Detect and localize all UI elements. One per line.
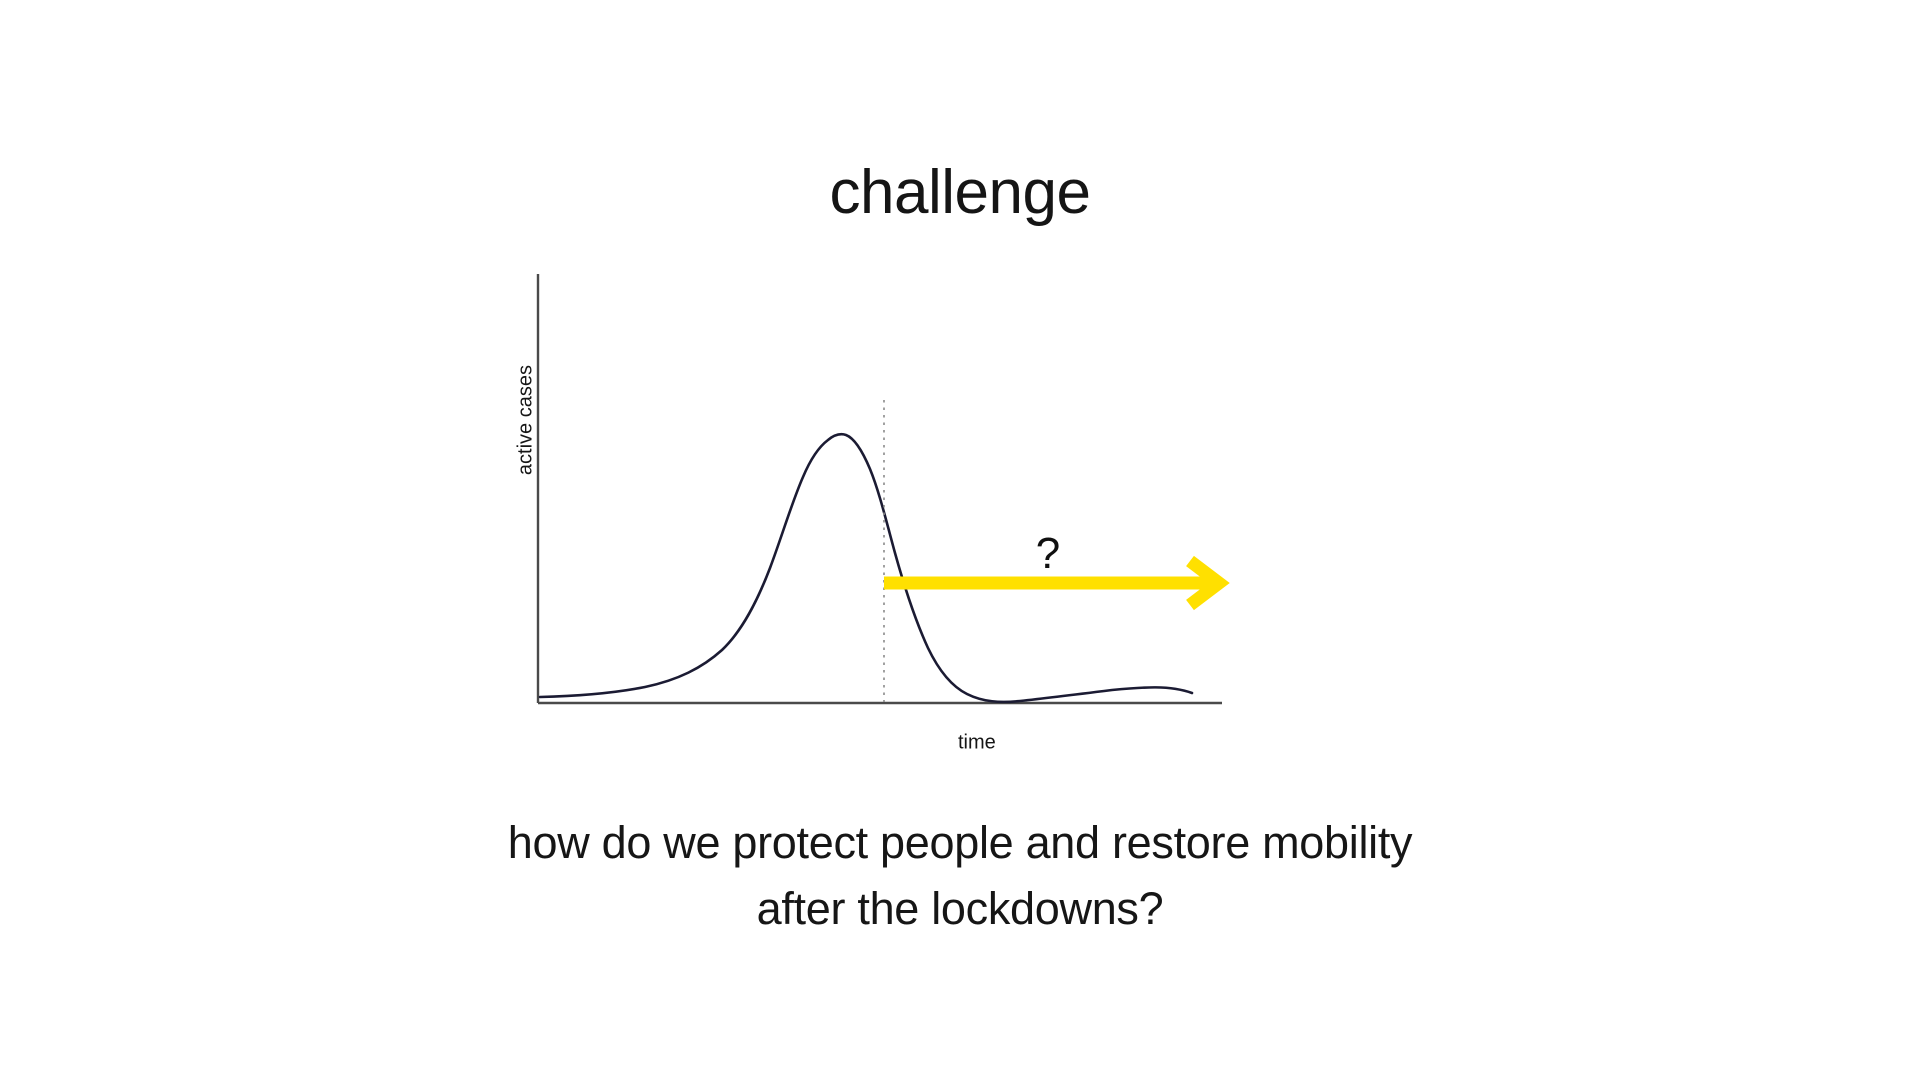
caption-line-1: how do we protect people and restore mob… (0, 810, 1920, 876)
chart-svg: active cases time ? (430, 250, 1270, 770)
page-title: challenge (0, 162, 1920, 224)
active-cases-curve (540, 434, 1192, 702)
y-axis-label: active cases (514, 365, 536, 475)
caption-line-2: after the lockdowns? (0, 876, 1920, 942)
question-mark-annotation: ? (1036, 529, 1060, 578)
caption: how do we protect people and restore mob… (0, 810, 1920, 942)
slide-canvas: challenge active cases time ? how do (0, 0, 1920, 1080)
epidemic-curve-figure: active cases time ? (430, 250, 1270, 770)
x-axis-label: time (958, 732, 996, 754)
